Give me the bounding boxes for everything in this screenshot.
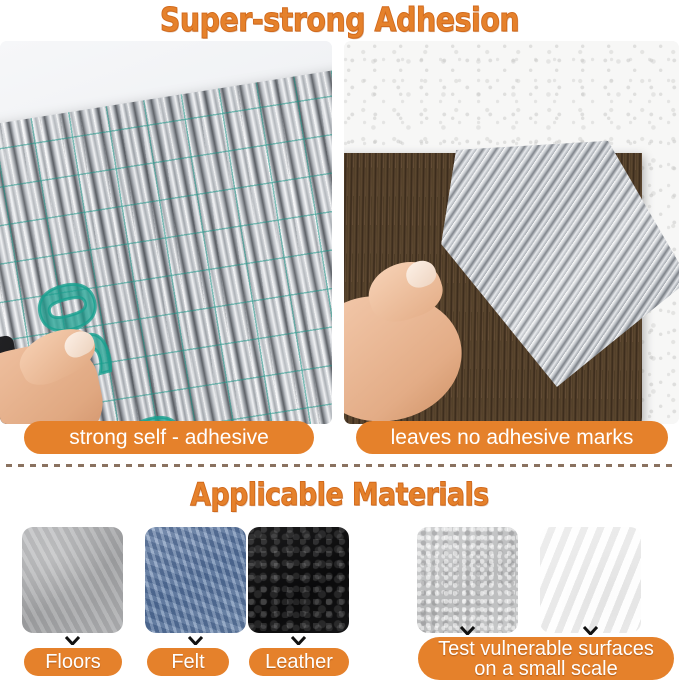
caption-strong-self-adhesive: strong self - adhesive <box>24 421 314 454</box>
label-test-vulnerable-surfaces: Test vulnerable surfaces on a small scal… <box>418 637 674 680</box>
page-title-adhesion: Super-strong Adhesion <box>48 2 632 38</box>
caption-leaves-no-adhesive-marks: leaves no adhesive marks <box>356 421 668 454</box>
chevron-down-icon <box>460 626 475 635</box>
leather-swatch <box>248 527 349 633</box>
white-wall-swatch <box>540 527 641 633</box>
chevron-down-icon <box>188 636 203 645</box>
floors-swatch <box>22 527 123 633</box>
warning-line-2: on a small scale <box>474 659 617 679</box>
page-title-materials: Applicable Materials <box>48 478 632 512</box>
foil-sheet-peel-photo: 30 20 <box>0 41 332 424</box>
label-floors: Floors <box>24 648 122 676</box>
hand <box>344 269 490 424</box>
label-felt: Felt <box>147 648 229 676</box>
chevron-down-icon <box>291 636 306 645</box>
chevron-down-icon <box>65 636 80 645</box>
felt-swatch <box>145 527 246 633</box>
label-leather: Leather <box>249 648 349 676</box>
mat-peel-photo <box>344 41 679 424</box>
hand <box>0 326 132 424</box>
stucco-swatch <box>417 527 518 633</box>
chevron-down-icon <box>583 626 598 635</box>
warning-line-1: Test vulnerable surfaces <box>438 639 654 659</box>
section-divider <box>6 464 673 467</box>
